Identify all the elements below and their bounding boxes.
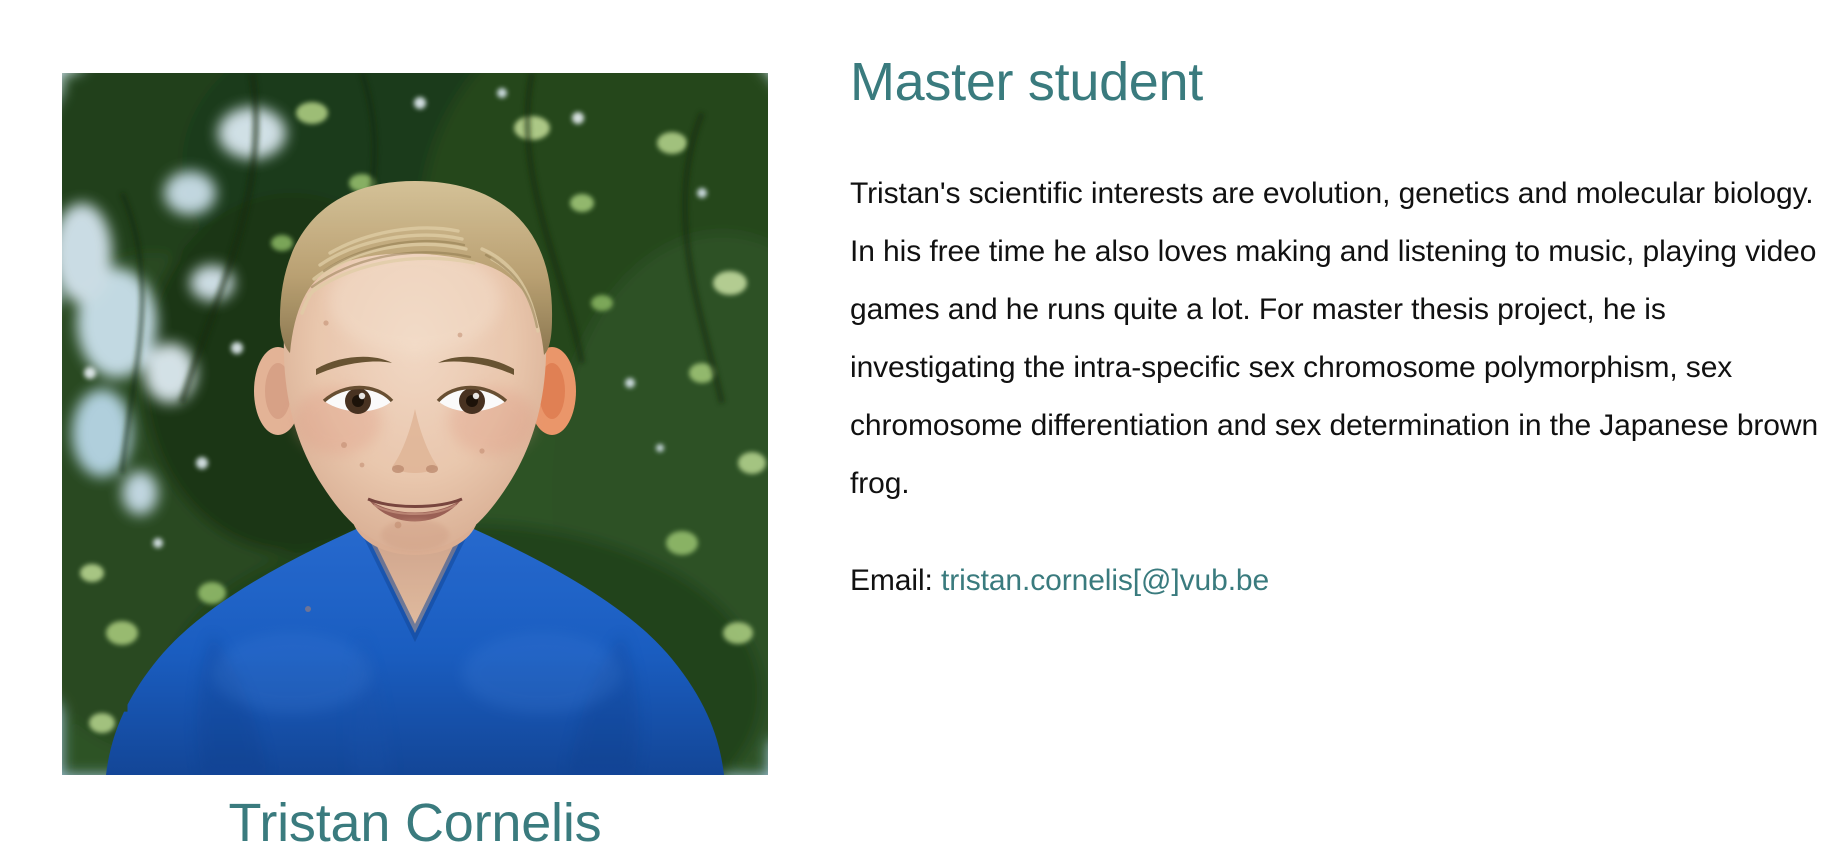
profile-card: Tristan Cornelis Master student Tristan'… — [0, 0, 1848, 866]
email-link[interactable]: tristan.cornelis[@]vub.be — [941, 564, 1269, 597]
email-label: Email: — [850, 564, 933, 597]
portrait-photo-image — [62, 73, 768, 775]
portrait-photo — [62, 73, 768, 775]
bio-paragraph: Tristan's scientific interests are evolu… — [850, 165, 1822, 513]
role-heading: Master student — [850, 48, 1822, 116]
photo-column: Tristan Cornelis — [62, 73, 768, 859]
person-name-caption: Tristan Cornelis — [62, 787, 768, 859]
email-line: Email: tristan.cornelis[@]vub.be — [850, 552, 1822, 610]
info-column: Master student Tristan's scientific inte… — [850, 48, 1822, 610]
